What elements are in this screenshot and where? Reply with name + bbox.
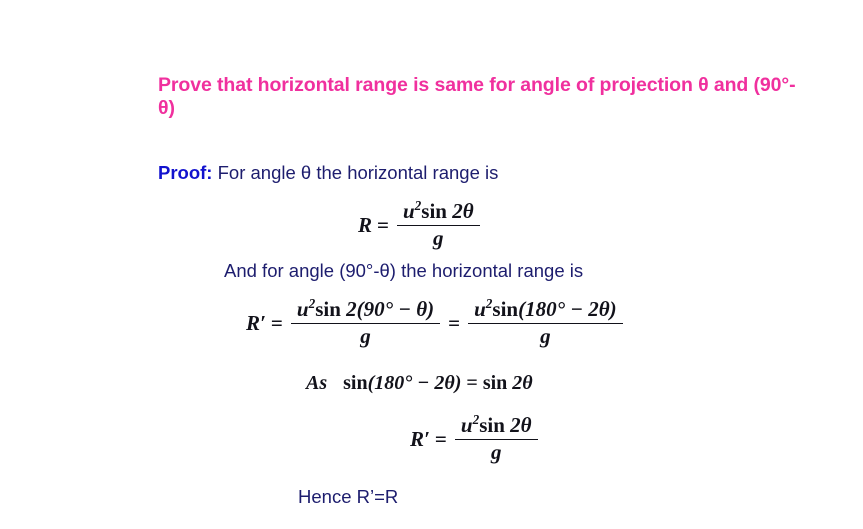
formula3-sin: sin bbox=[479, 413, 505, 437]
formula2-sin-2: sin bbox=[492, 297, 518, 321]
identity-equals: = bbox=[466, 372, 477, 395]
formula1-fraction: u2sin 2θ g bbox=[397, 200, 480, 251]
identity-argument: (180° − 2θ) bbox=[368, 372, 462, 395]
identity-lead: As bbox=[306, 372, 327, 395]
slide-canvas: Prove that horizontal range is same for … bbox=[0, 0, 863, 529]
formula1-numerator: u2sin 2θ bbox=[397, 200, 480, 225]
formula1-lhs: R bbox=[358, 213, 372, 238]
formula3-argument: 2θ bbox=[510, 413, 531, 437]
formula3-numerator: u2sin 2θ bbox=[455, 414, 538, 439]
slide-title: Prove that horizontal range is same for … bbox=[158, 74, 808, 120]
formula-range-complement: R′ = u2sin 2(90° − θ) g = u2sin(180° − 2… bbox=[246, 298, 626, 349]
formula1-argument: 2θ bbox=[452, 199, 473, 223]
formula3-denominator: g bbox=[485, 440, 508, 465]
formula3-u: u bbox=[461, 413, 473, 437]
formula1-denominator: g bbox=[427, 226, 450, 251]
formula2-fraction-2: u2sin(180° − 2θ) g bbox=[468, 298, 623, 349]
formula3-fraction: u2sin 2θ g bbox=[455, 414, 538, 465]
formula2-u-1: u bbox=[297, 297, 309, 321]
proof-keyword: Proof: bbox=[158, 162, 212, 183]
formula2-lhs: R bbox=[246, 311, 260, 336]
formula-range-result: R′ = u2sin 2θ g bbox=[410, 414, 541, 465]
formula-range-theta: R = u2sin 2θ g bbox=[358, 200, 483, 251]
identity-result-argument: 2θ bbox=[512, 372, 532, 395]
formula2-lhs-prime: ′ bbox=[260, 311, 266, 336]
formula2-denominator-2: g bbox=[534, 324, 557, 349]
formula1-u: u bbox=[403, 199, 415, 223]
proof-intro-text: For angle θ the horizontal range is bbox=[212, 162, 498, 183]
formula1-sin: sin bbox=[421, 199, 447, 223]
formula2-equals-1: = bbox=[271, 311, 283, 336]
conclusion-line: Hence R’=R bbox=[298, 486, 398, 508]
identity-sin: sin bbox=[343, 372, 367, 395]
formula2-numerator-1: u2sin 2(90° − θ) bbox=[291, 298, 440, 323]
identity-result-sin: sin bbox=[483, 372, 507, 395]
formula1-equals: = bbox=[377, 213, 389, 238]
formula2-argument-2: (180° − 2θ) bbox=[518, 297, 617, 321]
formula3-lhs: R bbox=[410, 427, 424, 452]
proof-intro-line: Proof: For angle θ the horizontal range … bbox=[158, 162, 498, 184]
formula2-equals-2: = bbox=[448, 311, 460, 336]
formula2-u-2: u bbox=[474, 297, 486, 321]
formula2-fraction-1: u2sin 2(90° − θ) g bbox=[291, 298, 440, 349]
formula3-equals: = bbox=[435, 427, 447, 452]
and-for-angle-line: And for angle (90°-θ) the horizontal ran… bbox=[224, 260, 583, 282]
formula2-sin-1: sin bbox=[315, 297, 341, 321]
formula2-numerator-2: u2sin(180° − 2θ) bbox=[468, 298, 623, 323]
trig-identity-line: As sin(180° − 2θ) = sin 2θ bbox=[306, 372, 533, 395]
formula3-lhs-prime: ′ bbox=[424, 427, 430, 452]
formula2-argument-1: 2(90° − θ) bbox=[346, 297, 434, 321]
formula2-denominator-1: g bbox=[354, 324, 377, 349]
